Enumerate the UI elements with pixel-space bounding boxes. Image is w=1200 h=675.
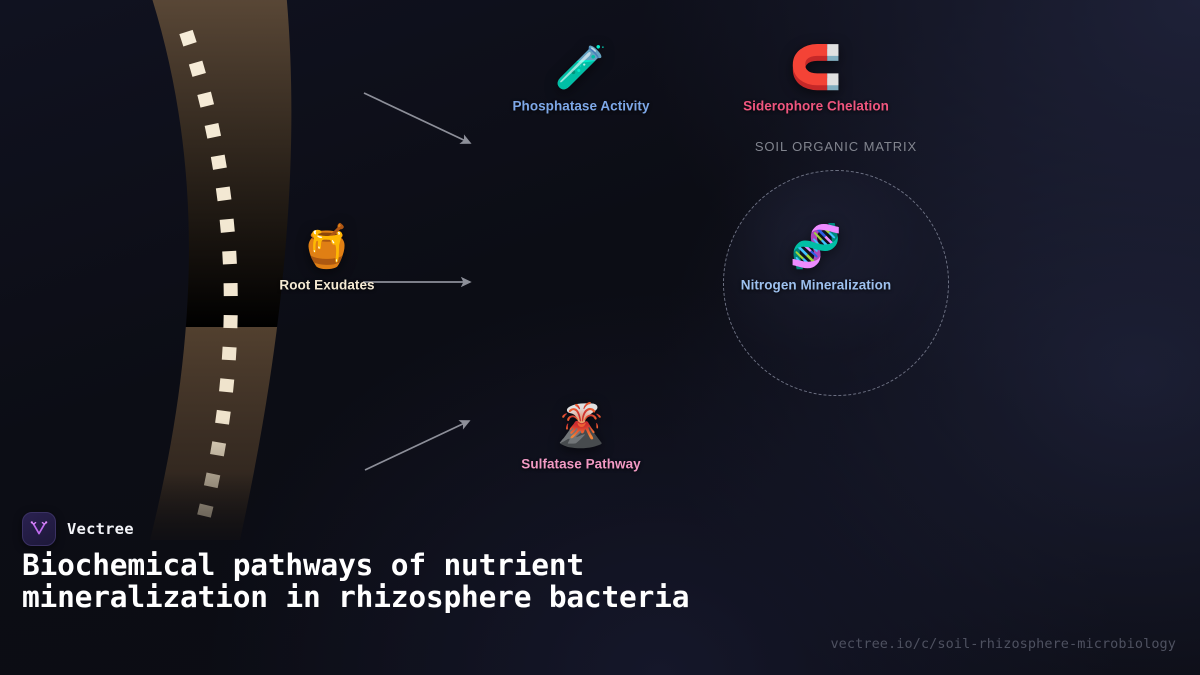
node-siderophore-chelation[interactable]: 🧲 Siderophore Chelation xyxy=(743,47,889,114)
node-label-nitrogen-mineralization: Nitrogen Mineralization xyxy=(741,278,891,293)
edge-to-sulfatase xyxy=(365,421,469,470)
node-label-root-exudates: Root Exudates xyxy=(279,278,374,293)
cluster-label-soil-organic-matrix: SOIL ORGANIC MATRIX xyxy=(726,139,946,154)
concept-canvas: SOIL ORGANIC MATRIX 🧪 Phosphatase Activi… xyxy=(0,0,1200,675)
test-tube-icon: 🧪 xyxy=(555,47,607,89)
brand[interactable]: Vectree xyxy=(22,512,134,546)
page-title: Biochemical pathways of nutrient mineral… xyxy=(22,549,782,613)
canvas-url: vectree.io/c/soil-rhizosphere-microbiolo… xyxy=(830,636,1176,652)
node-label-siderophore-chelation: Siderophore Chelation xyxy=(743,99,889,114)
brand-name: Vectree xyxy=(67,520,134,538)
honey-pot-icon: 🍯 xyxy=(301,226,353,268)
node-phosphatase-activity[interactable]: 🧪 Phosphatase Activity xyxy=(512,47,649,114)
magnet-icon: 🧲 xyxy=(790,47,842,89)
node-sulfatase-pathway[interactable]: 🌋 Sulfatase Pathway xyxy=(521,405,640,472)
node-label-sulfatase-pathway: Sulfatase Pathway xyxy=(521,457,640,472)
volcano-icon: 🌋 xyxy=(555,405,607,447)
node-root-exudates[interactable]: 🍯 Root Exudates xyxy=(279,226,374,293)
edge-to-phosphatase xyxy=(364,93,470,143)
node-nitrogen-mineralization[interactable]: 🧬 Nitrogen Mineralization xyxy=(741,226,891,293)
node-label-phosphatase-activity: Phosphatase Activity xyxy=(512,99,649,114)
dna-icon: 🧬 xyxy=(790,226,842,268)
vectree-v-logo-icon xyxy=(22,512,56,546)
